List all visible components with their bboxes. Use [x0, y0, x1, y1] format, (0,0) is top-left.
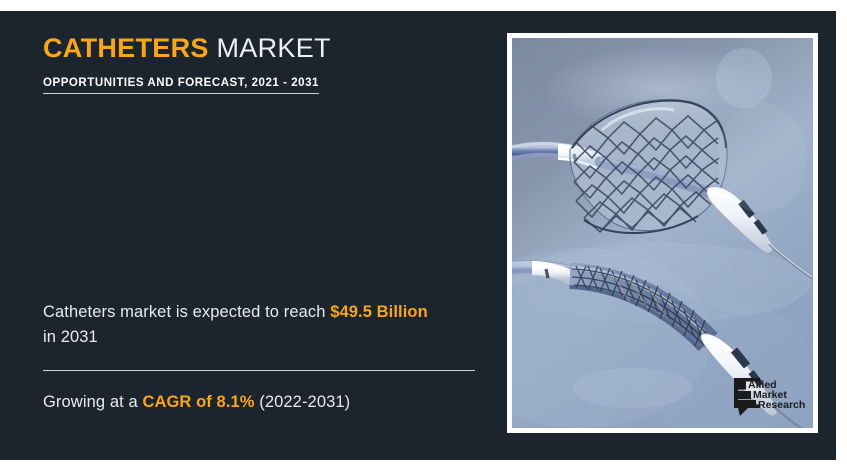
- stat-primary-second-line: in 2031: [43, 328, 98, 346]
- product-image: Allied Market Research: [512, 38, 813, 428]
- stat-secondary-prefix: Growing at a: [43, 393, 142, 411]
- title-rest: MARKET: [209, 33, 331, 63]
- stat-primary-value: $49.5 Billion: [330, 303, 428, 321]
- stat-secondary-suffix: (2022-2031): [255, 393, 351, 411]
- subtitle-underline: OPPORTUNITIES AND FORECAST, 2021 - 2031: [43, 77, 319, 94]
- stat-secondary: Growing at a CAGR of 8.1% (2022-2031): [43, 390, 483, 415]
- stat-primary-prefix: Catheters market is expected to reach: [43, 303, 330, 321]
- title-block: CATHETERS MARKET OPPORTUNITIES AND FOREC…: [43, 34, 483, 94]
- allied-market-research-logo: Allied Market Research: [732, 373, 808, 418]
- infographic-root: CATHETERS MARKET OPPORTUNITIES AND FOREC…: [0, 0, 847, 470]
- product-image-card: Allied Market Research: [507, 33, 818, 433]
- stat-secondary-value: CAGR of 8.1%: [142, 393, 254, 411]
- stat-primary: Catheters market is expected to reach $4…: [43, 300, 483, 350]
- left-content-column: CATHETERS MARKET OPPORTUNITIES AND FOREC…: [43, 0, 483, 449]
- subtitle: OPPORTUNITIES AND FORECAST, 2021 - 2031: [43, 77, 319, 89]
- amr-logo-mark: Allied Market Research: [732, 373, 808, 418]
- page-title: CATHETERS MARKET: [43, 34, 483, 64]
- title-keyword: CATHETERS: [43, 33, 209, 63]
- catheter-stent-illustration: [512, 38, 813, 428]
- logo-line-3: Research: [758, 399, 805, 411]
- stats-block: Catheters market is expected to reach $4…: [43, 300, 483, 414]
- stats-divider: [43, 370, 475, 371]
